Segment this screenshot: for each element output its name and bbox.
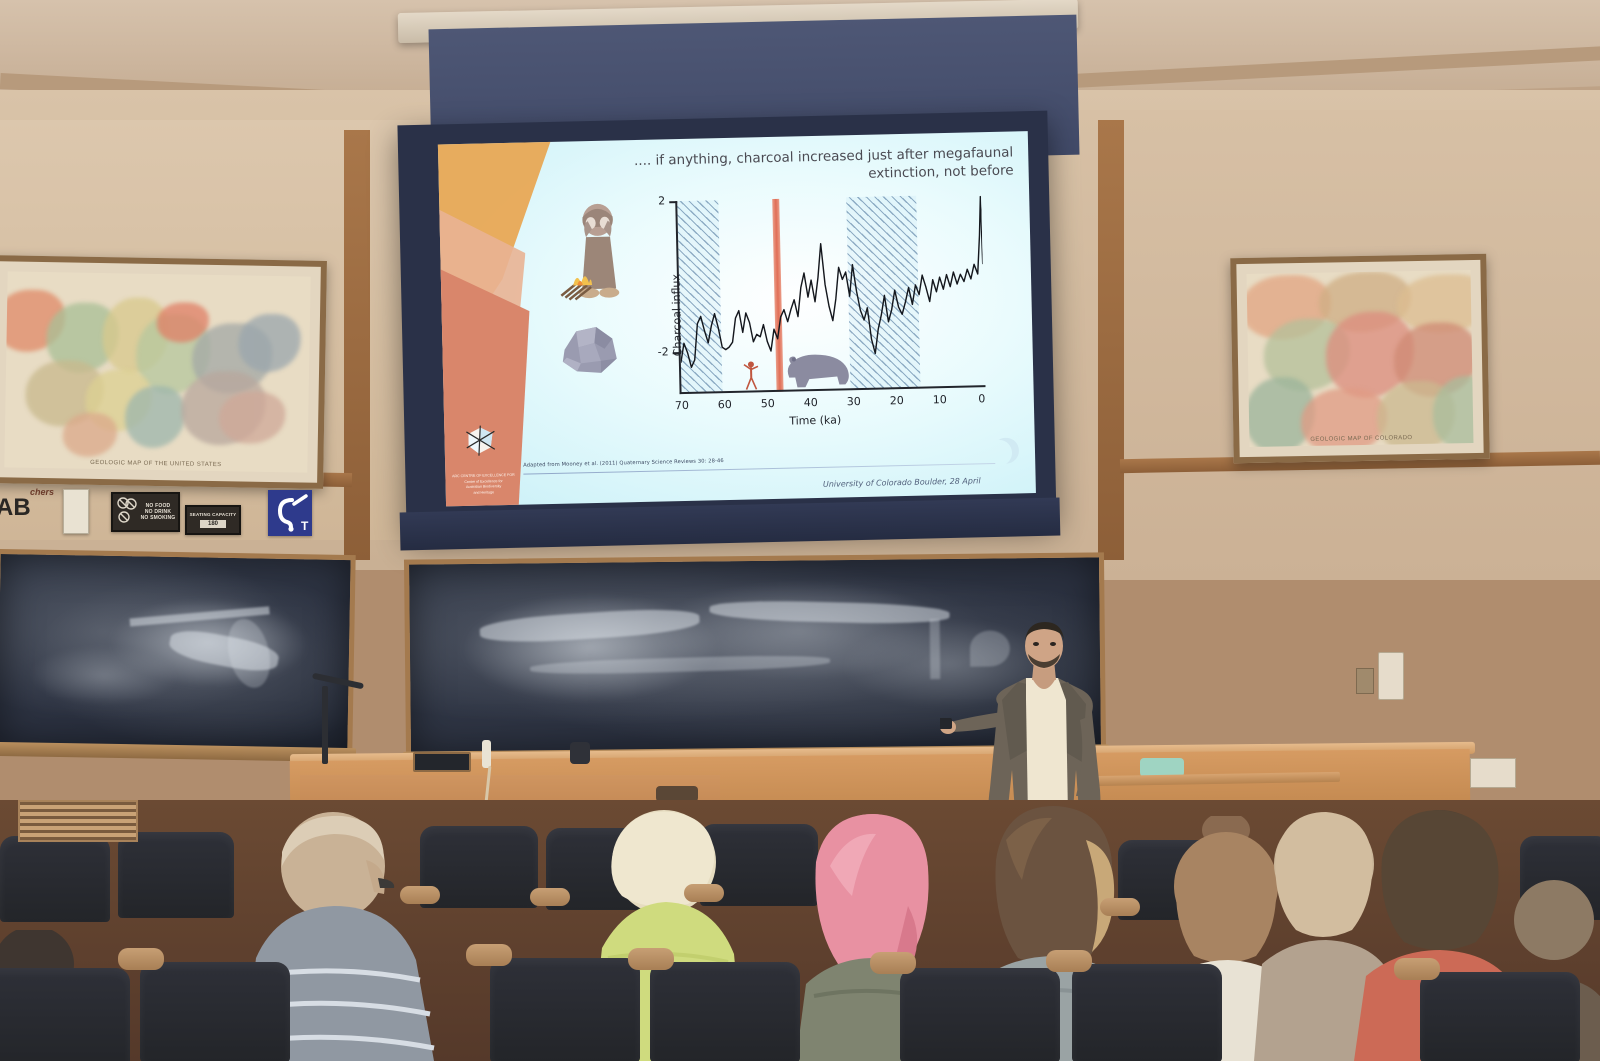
map-colorado-canvas: GEOLOGIC MAP OF COLORADO (1247, 270, 1474, 447)
wall-outlet-plate[interactable] (1470, 758, 1516, 788)
map-usa-canvas: GEOLOGIC MAP OF THE UNITED STATES (4, 271, 310, 472)
wall-speaker-grille (1356, 668, 1374, 694)
megafauna-silhouette-icon (779, 346, 854, 392)
lecture-hall-photo: GEOLOGIC MAP OF THE UNITED STATES GEOLOG… (0, 0, 1600, 1061)
framed-map-usa: GEOLOGIC MAP OF THE UNITED STATES (0, 255, 327, 489)
sign-lab-text: AB (0, 497, 54, 519)
x-tick-label-7: 0 (978, 392, 985, 405)
no-food-icons (116, 497, 138, 527)
seat-foreground[interactable] (900, 968, 1060, 1061)
pilaster-left (344, 130, 370, 560)
x-tick-label-4: 30 (847, 395, 861, 408)
pilaster-right (1098, 120, 1124, 560)
charcoal-influx-chart: 2 -2 Charcoal influx 70 60 50 40 30 20 1… (635, 190, 990, 433)
seat-armrest (1100, 898, 1140, 916)
sign-no-food-label: NO FOOD NO DRINK NO SMOKING (141, 503, 176, 522)
seat-armrest (1046, 950, 1092, 972)
chart-y-axis-label: Charcoal influx (669, 273, 684, 355)
desk-lamp-post (322, 686, 328, 764)
x-tick-label-5: 20 (890, 394, 904, 407)
seat-armrest (530, 888, 570, 906)
coe-logo-mark-icon (450, 419, 515, 472)
seat-armrest (1394, 958, 1440, 980)
slide-footer: University of Colorado Boulder, 28 April (823, 476, 981, 489)
wall-vent (18, 800, 138, 842)
seating-capacity-label: SEATING CAPACITY (190, 512, 237, 518)
map-usa-caption: GEOLOGIC MAP OF THE UNITED STATES (4, 458, 307, 469)
sign-notice-paper (63, 489, 89, 534)
wall-control-panel[interactable] (1378, 652, 1404, 700)
slide-title: .... if anything, charcoal increased jus… (613, 143, 1014, 189)
desk-microphone[interactable] (570, 742, 590, 764)
seat-foreground[interactable] (1072, 964, 1222, 1061)
x-tick-label-2: 50 (761, 397, 775, 410)
water-bottle[interactable] (482, 740, 491, 768)
x-tick-label-1: 60 (718, 398, 732, 411)
coe-logo-text: ARC CENTRE OF EXCELLENCE FOR Centre of E… (451, 473, 515, 496)
x-tick-label-0: 70 (675, 399, 689, 412)
seat-armrest (466, 944, 512, 966)
y-tick-label-bottom: -2 (658, 345, 669, 358)
framed-map-colorado: GEOLOGIC MAP OF COLORADO (1230, 254, 1490, 463)
sign-seating-capacity: SEATING CAPACITY 180 (185, 505, 241, 535)
seat-foreground[interactable] (0, 968, 130, 1061)
projection-screen: .... if anything, charcoal increased jus… (397, 111, 1056, 536)
seat-empty[interactable] (0, 836, 110, 922)
hearing-loop-t-glyph: T (301, 519, 309, 533)
presentation-slide: .... if anything, charcoal increased jus… (438, 131, 1036, 506)
seat-foreground[interactable] (490, 958, 640, 1061)
sign-lab-partial: chers AB (0, 487, 54, 532)
seat-armrest (400, 886, 440, 904)
chalkboard-left (0, 549, 356, 755)
chart-x-axis-label: Time (ka) (640, 410, 990, 431)
seat-foreground[interactable] (1420, 972, 1580, 1061)
seat-armrest (118, 948, 164, 970)
presenter-clicker (940, 718, 952, 729)
x-tick-label-3: 40 (804, 396, 818, 409)
sign-no-food-no-drink-no-smoking: NO FOOD NO DRINK NO SMOKING (111, 492, 180, 532)
seat-armrest (628, 948, 674, 970)
y-tick-label-top: 2 (658, 194, 665, 207)
seat-armrest (870, 952, 916, 974)
slide-citation: Adapted from Mooney et al. (2011) Quater… (523, 458, 724, 469)
y-tick-top: 2 (669, 201, 677, 203)
charcoal-lumps-icon (554, 318, 629, 380)
hearing-loop-icon: T (270, 492, 310, 534)
seat-foreground[interactable] (650, 962, 800, 1061)
document-camera-tray[interactable] (413, 752, 471, 772)
moon-decoration-icon (993, 437, 1020, 464)
seat-armrest (684, 884, 724, 902)
human-hunter-silhouette-icon (743, 360, 760, 390)
seat-foreground[interactable] (140, 962, 290, 1061)
cartoon-person-campfire-icon (557, 202, 631, 312)
seat-empty[interactable] (118, 832, 234, 918)
coe-logo: ARC CENTRE OF EXCELLENCE FOR Centre of E… (450, 419, 516, 498)
coe-logo-line-4: and Heritage (452, 489, 516, 496)
sign-hearing-loop: T (268, 490, 312, 536)
seating-capacity-value: 180 (200, 520, 226, 528)
x-tick-label-6: 10 (933, 393, 947, 406)
